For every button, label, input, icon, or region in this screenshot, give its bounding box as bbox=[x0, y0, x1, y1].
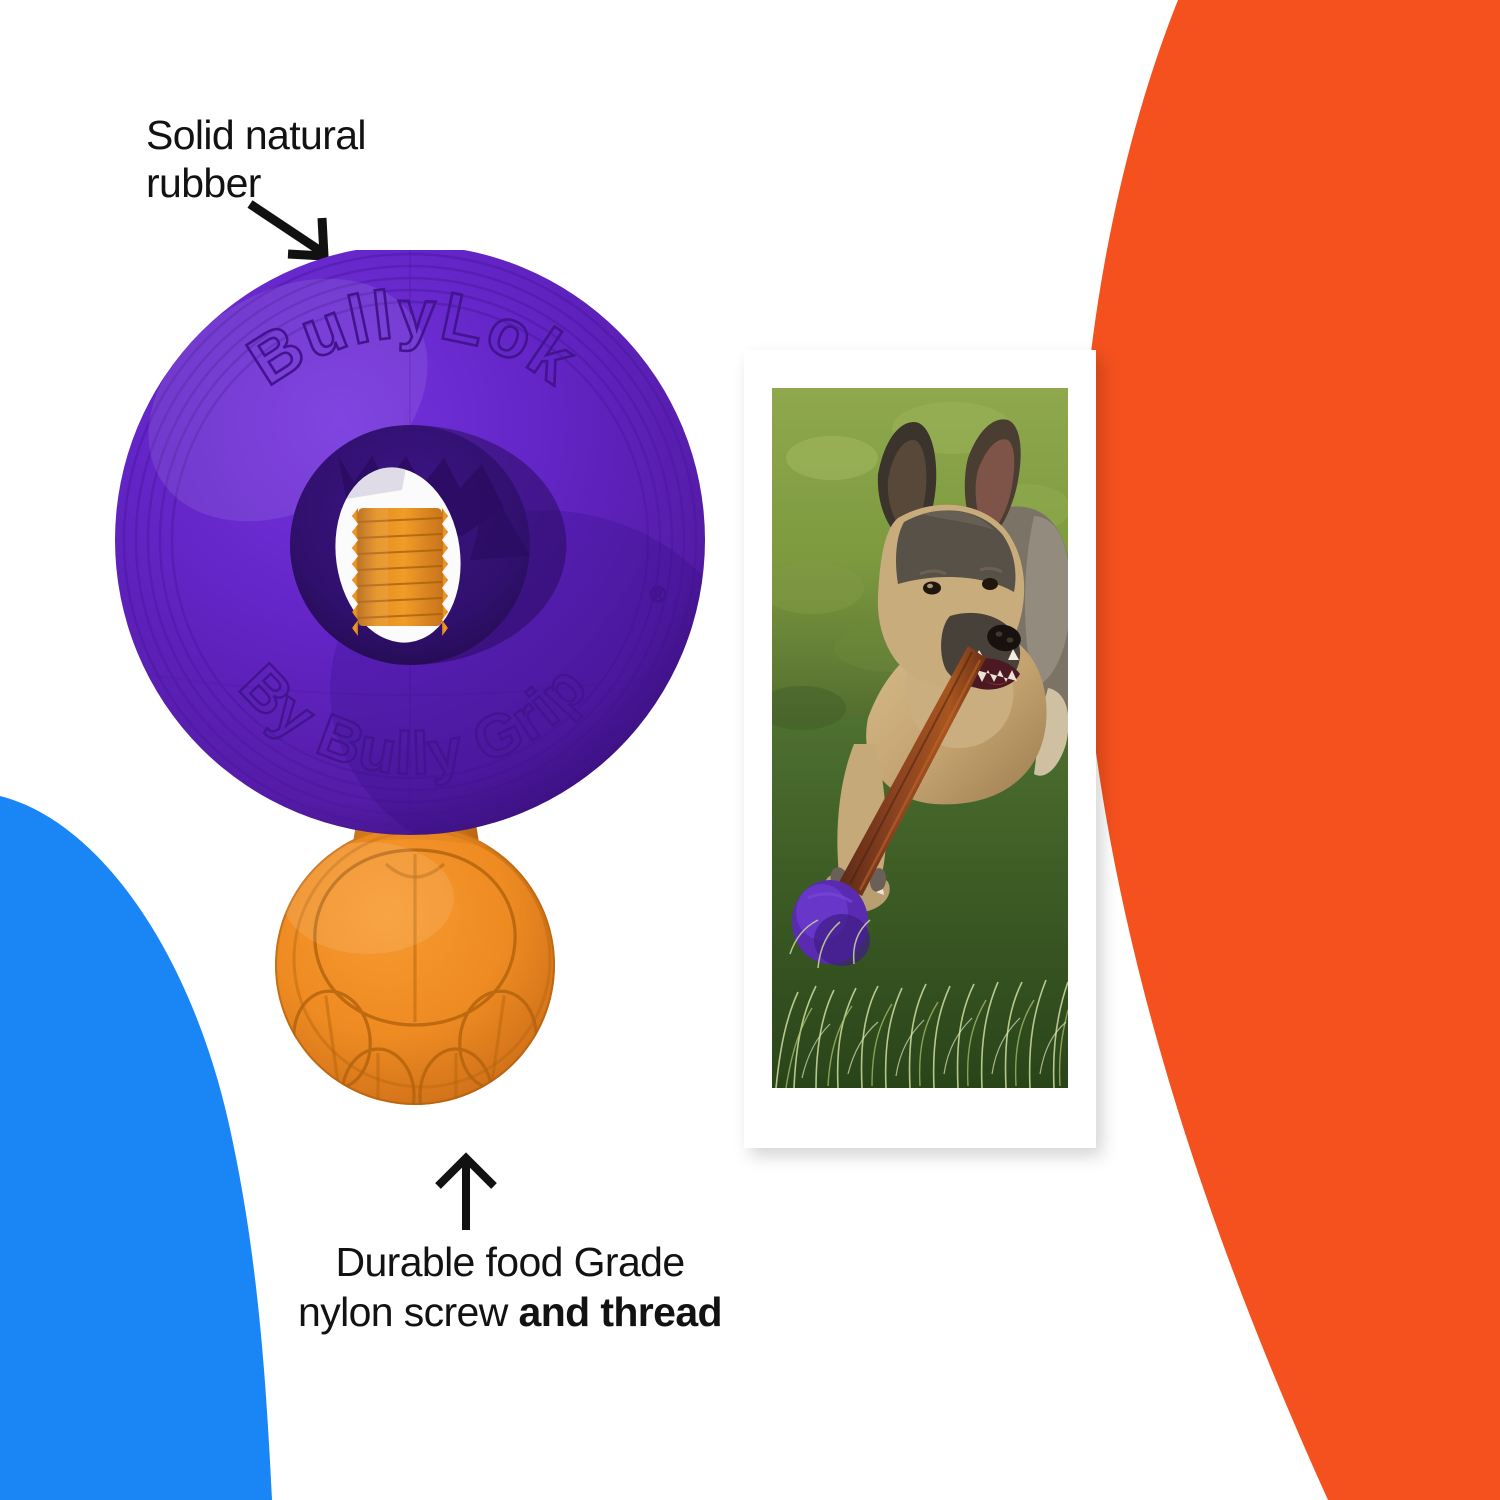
registered-trademark-symbol: ® bbox=[650, 582, 666, 607]
callout-line-2: nylon screw and thread bbox=[230, 1287, 790, 1337]
up-arrow-icon bbox=[428, 1152, 504, 1234]
dog-photo-card bbox=[744, 350, 1096, 1148]
dog-photo bbox=[772, 388, 1068, 1088]
orange-corner-shape bbox=[1070, 0, 1500, 1500]
callout-line-2-bold: and thread bbox=[519, 1289, 722, 1335]
callout-line-2: rubber bbox=[146, 160, 566, 208]
callout-solid-natural-rubber: Solid natural rubber bbox=[146, 112, 566, 207]
orange-screw-thread bbox=[352, 508, 448, 636]
dog-photo-illustration bbox=[772, 388, 1068, 1088]
callout-line-1: Solid natural bbox=[146, 112, 566, 160]
orange-nylon-screw-cap bbox=[275, 786, 555, 1143]
callout-line-1: Durable food Grade bbox=[230, 1237, 790, 1287]
callout-line-2-regular: nylon screw bbox=[298, 1289, 518, 1335]
purple-rubber-ball: BullyLok By Bully Grip ® bbox=[110, 250, 750, 870]
callout-durable-nylon-screw: Durable food Grade nylon screw and threa… bbox=[230, 1237, 790, 1337]
product-infographic: Solid natural rubber Durable food Grade … bbox=[0, 0, 1500, 1500]
bullylok-dog-toy: BullyLok By Bully Grip ® bbox=[110, 250, 750, 1150]
